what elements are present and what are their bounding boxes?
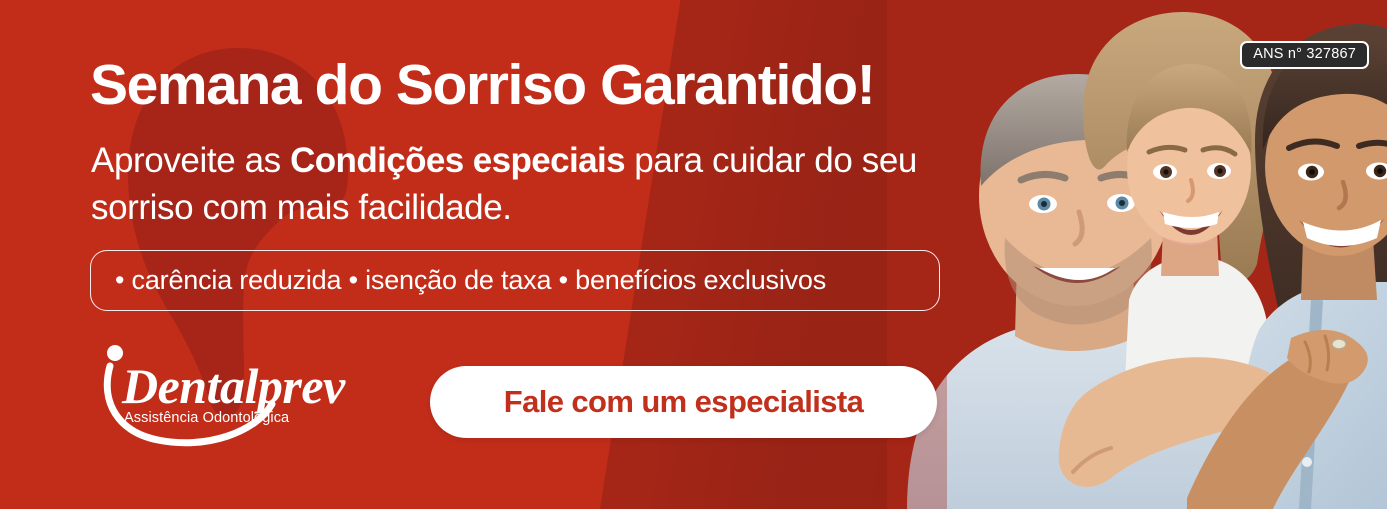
cta-button[interactable]: Fale com um especialista — [430, 366, 937, 438]
ans-registry-badge: ANS n° 327867 — [1240, 41, 1369, 69]
subheadline-emphasis: Condições especiais — [290, 141, 625, 180]
subheadline-part1: Aproveite as — [91, 141, 290, 180]
benefits-pill: • carência reduzida • isenção de taxa • … — [90, 250, 940, 311]
logo-tagline: Assistência Odontológica — [124, 410, 290, 426]
promo-banner: ANS n° 327867 Semana do Sorriso Garantid… — [0, 0, 1387, 509]
benefits-list: • carência reduzida • isenção de taxa • … — [115, 265, 826, 296]
brand-logo[interactable]: Dentalprev Assistência Odontológica — [96, 340, 351, 452]
logo-wordmark: Dentalprev — [121, 358, 346, 414]
subheadline: Aproveite as Condições especiais para cu… — [91, 138, 971, 231]
banner-content: Semana do Sorriso Garantido! Aproveite a… — [0, 0, 1387, 509]
page-title: Semana do Sorriso Garantido! — [90, 56, 874, 116]
